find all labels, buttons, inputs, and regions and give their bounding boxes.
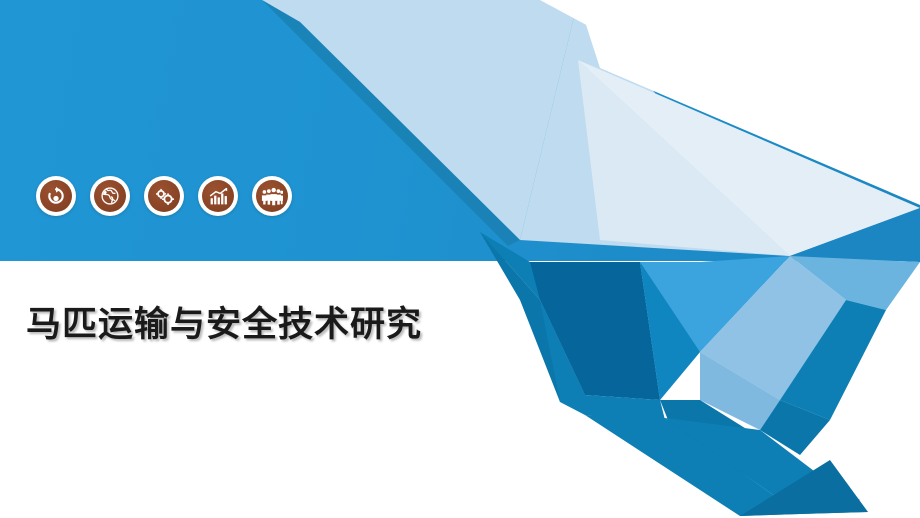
- icon-badge-gears[interactable]: [144, 176, 184, 216]
- refresh-cycle-icon: [40, 180, 72, 212]
- tagline: 数智创新 变革未来: [711, 26, 898, 51]
- people-group-icon: [256, 180, 288, 212]
- gears-icon: [148, 180, 180, 212]
- icon-badge-people-group[interactable]: [252, 176, 292, 216]
- presentation-title-slide: 数智创新 变革未来: [0, 0, 920, 518]
- low-poly-graphic: [0, 0, 920, 518]
- icon-row: [36, 176, 292, 216]
- bar-chart-growth-icon: [202, 180, 234, 212]
- globe-icon: [94, 180, 126, 212]
- icon-badge-globe[interactable]: [90, 176, 130, 216]
- icon-badge-refresh-cycle[interactable]: [36, 176, 76, 216]
- page-title: 马匹运输与安全技术研究: [26, 296, 422, 347]
- icon-badge-bar-chart-growth[interactable]: [198, 176, 238, 216]
